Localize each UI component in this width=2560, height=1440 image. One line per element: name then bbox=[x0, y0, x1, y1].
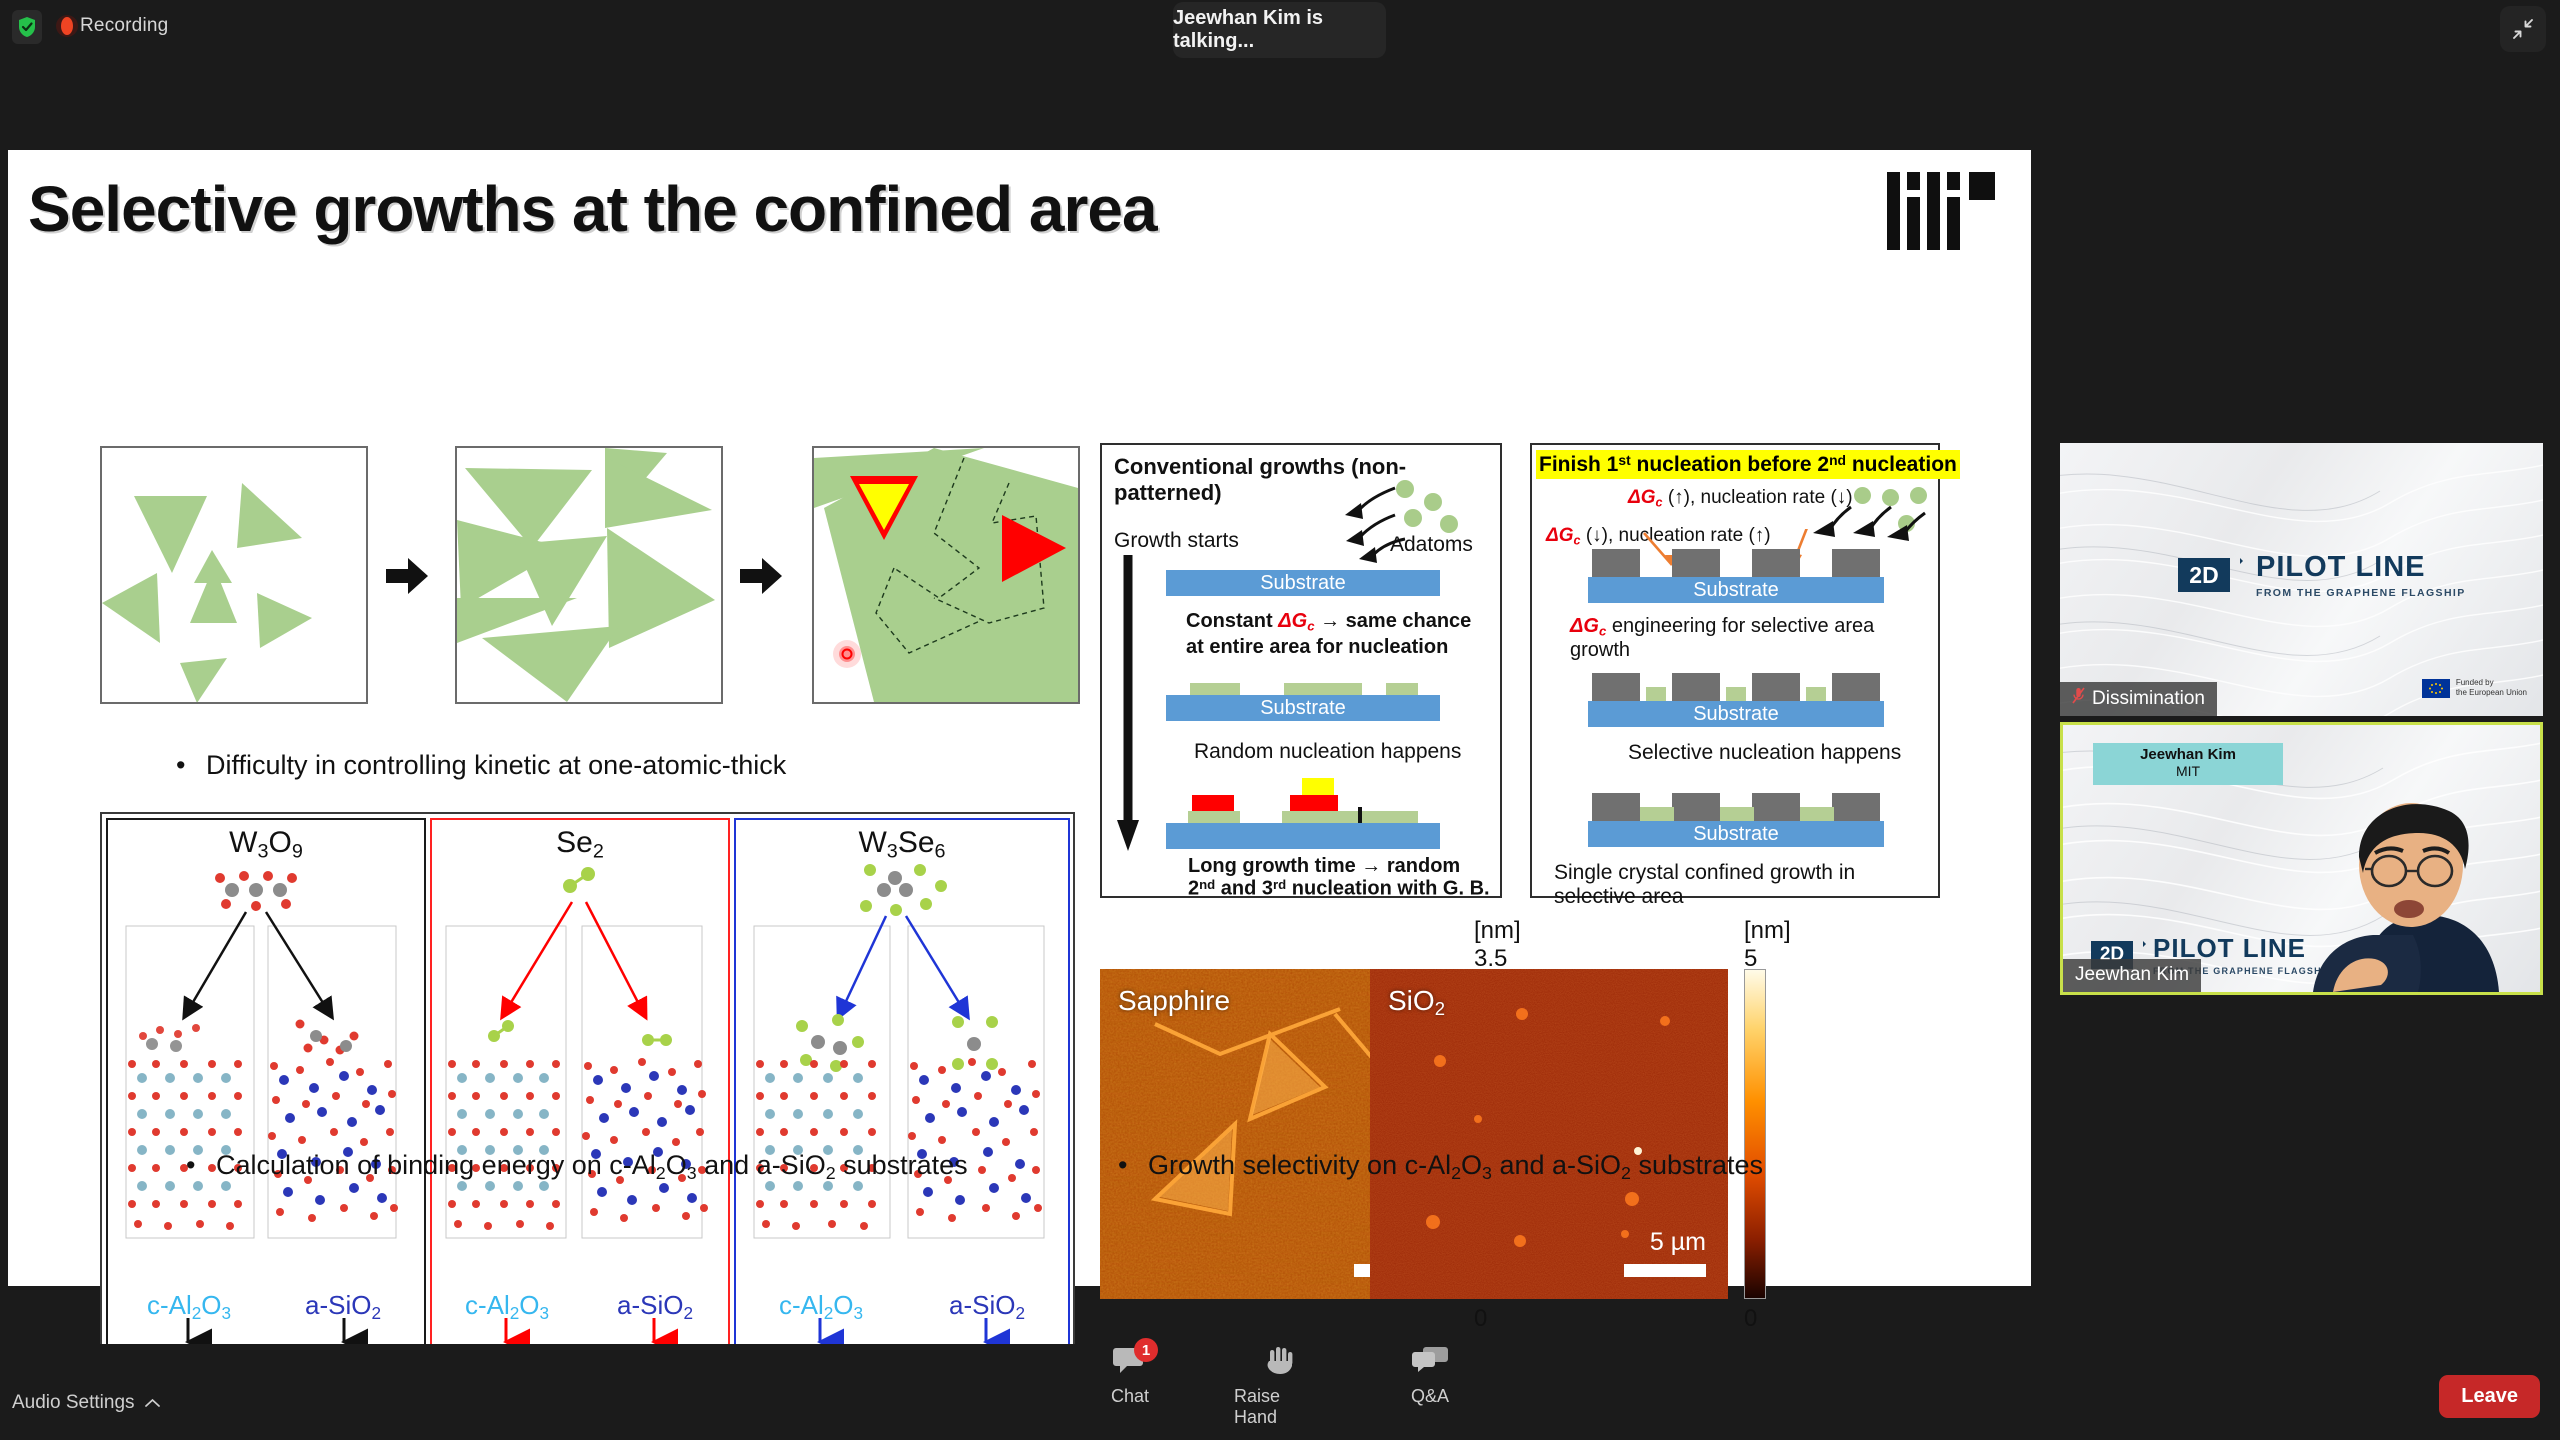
second-nucleation-block bbox=[1192, 795, 1234, 811]
eu-funding-line2: the European Union bbox=[2456, 688, 2527, 698]
bullet-difficulty: •Difficulty in controlling kinetic at on… bbox=[176, 750, 786, 781]
mic-muted-icon bbox=[2072, 687, 2085, 710]
dft-column-w3se6: W3Se6 bbox=[734, 818, 1070, 1370]
binding-energy-panel: W3O9 bbox=[100, 812, 1075, 1372]
chevron-up-icon[interactable] bbox=[145, 1392, 160, 1414]
selective-title: Finish 1st nucleation before 2nd nucleat… bbox=[1536, 450, 1960, 479]
logo-subtitle: FROM THE GRAPHENE FLAGSHIP bbox=[2256, 587, 2466, 599]
dft-column-w3o9: W3O9 bbox=[106, 818, 426, 1370]
afm-scalebar bbox=[1624, 1264, 1706, 1277]
title-part-b: nucleation before 2 bbox=[1631, 453, 1829, 476]
single-crystal-line: Single crystal confined growth in select… bbox=[1554, 861, 1938, 909]
afm-tag-sub: 2 bbox=[1435, 998, 1445, 1019]
participant-name: Dissimination bbox=[2092, 688, 2205, 710]
delta-gc-symbol: ΔGc bbox=[1628, 487, 1663, 508]
delta-gc-symbol: ΔGc bbox=[1570, 615, 1606, 637]
nucleus-segment bbox=[1720, 807, 1754, 821]
title-part-a: Finish 1 bbox=[1539, 453, 1618, 476]
engineering-line: ΔGc engineering for selective area growt… bbox=[1570, 615, 1938, 662]
mask-block bbox=[1752, 549, 1800, 577]
growth-stage-3 bbox=[812, 446, 1080, 704]
page-title: Selective growths at the confined area bbox=[28, 172, 1157, 246]
nucleus-segment bbox=[1800, 807, 1834, 821]
bullet-calculation: •Calculation of binding energy on c-Al2O… bbox=[186, 1150, 968, 1184]
nucleus-segment bbox=[1806, 687, 1826, 701]
constant-suffix: → same chance bbox=[1315, 610, 1472, 632]
mask-block bbox=[1752, 793, 1800, 821]
substrate-bar: Substrate bbox=[1588, 821, 1884, 847]
engineering-text: engineering for selective area growth bbox=[1570, 615, 1874, 661]
eu-flag-icon bbox=[2422, 679, 2450, 698]
chat-unread-badge: 1 bbox=[1134, 1338, 1158, 1362]
nucleus-segment bbox=[1726, 687, 1746, 701]
bullet-marker: • bbox=[186, 1150, 216, 1181]
nucleus-segment bbox=[1190, 683, 1240, 695]
constant-prefix: Constant bbox=[1186, 610, 1278, 632]
chat-button[interactable]: 1 Chat bbox=[1084, 1346, 1176, 1428]
mask-block bbox=[1672, 549, 1720, 577]
shield-check-icon[interactable] bbox=[12, 10, 42, 44]
afm-unit-label: [nm] bbox=[1474, 917, 1544, 945]
growth-stage-diagram bbox=[100, 446, 1080, 706]
growth-stage-1 bbox=[100, 446, 368, 704]
entire-area-line: at entire area for nucleation bbox=[1186, 636, 1448, 659]
zoom-meeting-window: Recording Jeewhan Kim is talking... Sele… bbox=[0, 0, 2560, 1440]
audio-settings-label: Audio Settings bbox=[12, 1392, 135, 1414]
random-nucleation-line: Random nucleation happens bbox=[1194, 740, 1461, 764]
nucleus-segment bbox=[1640, 807, 1674, 821]
recording-label: Recording bbox=[80, 15, 168, 37]
video-tile-jeewhan-kim[interactable]: Jeewhan Kim MIT 2D PILOT LINE FROM THE G… bbox=[2060, 722, 2543, 995]
conventional-growths-diagram: Conventional growths (non-patterned) Gro… bbox=[1100, 443, 1502, 898]
afm-image-sio2: SiO2 5 µm bbox=[1370, 969, 1728, 1299]
participant-name-tag: Jeewhan Kim bbox=[2063, 959, 2201, 992]
afm-unit-label: [nm] bbox=[1744, 917, 1814, 945]
leave-button[interactable]: Leave bbox=[2439, 1375, 2540, 1418]
mask-block bbox=[1672, 673, 1720, 701]
mit-logo bbox=[1887, 172, 2007, 250]
title-sup-1: st bbox=[1618, 452, 1630, 468]
dft-col-header: Se2 bbox=[432, 826, 728, 864]
afm-tag-sapphire: Sapphire bbox=[1118, 985, 1230, 1017]
afm-min-label: 0 bbox=[1744, 1305, 1757, 1333]
eu-funding-line1: Funded by bbox=[2456, 678, 2527, 688]
mask-block bbox=[1832, 549, 1880, 577]
growth-stage-2 bbox=[455, 446, 723, 704]
dft-col-header: W3Se6 bbox=[736, 826, 1068, 864]
nucleus-segment bbox=[1646, 687, 1666, 701]
selective-growth-diagram: Finish 1st nucleation before 2nd nucleat… bbox=[1530, 443, 1940, 898]
afm-tag-sio2: SiO2 bbox=[1388, 985, 1445, 1020]
mask-block bbox=[1672, 793, 1720, 821]
substrate-bar bbox=[1166, 823, 1440, 849]
afm-colorbar bbox=[1744, 969, 1766, 1299]
mask-block bbox=[1592, 793, 1640, 821]
arrow-stage-2-to-3 bbox=[740, 556, 782, 596]
dft-col-header: W3O9 bbox=[108, 826, 424, 864]
participant-name-tag: Dissimination bbox=[2060, 682, 2217, 716]
adatom-dot bbox=[1440, 515, 1458, 533]
speaker-overlay-org: MIT bbox=[2093, 763, 2283, 779]
speaker-overlay-name: Jeewhan Kim bbox=[2093, 746, 2283, 763]
delta-gc-symbol: ΔGc bbox=[1278, 610, 1314, 632]
substrate-bar: Substrate bbox=[1166, 695, 1440, 721]
time-arrow bbox=[1116, 555, 1146, 855]
raise-hand-button[interactable]: Raise Hand bbox=[1234, 1346, 1326, 1428]
mask-block bbox=[1832, 673, 1880, 701]
bottom-toolbar: Audio Settings 1 Chat Raise Hand bbox=[0, 1344, 2560, 1440]
raised-hand-icon[interactable] bbox=[1265, 1346, 1295, 1379]
adatom-arrows bbox=[1327, 483, 1407, 563]
mask-block bbox=[1592, 549, 1640, 577]
shared-slide: Selective growths at the confined area bbox=[8, 150, 2031, 1286]
title-part-c: nucleation bbox=[1846, 453, 1957, 476]
adatom-dot bbox=[1910, 487, 1927, 504]
bullet-marker: • bbox=[176, 750, 206, 781]
video-tile-dissimination[interactable]: 2D PILOT LINE FROM THE GRAPHENE FLAGSHIP… bbox=[2060, 443, 2543, 716]
bullet-marker: • bbox=[1118, 1150, 1148, 1181]
afm-min-label: 0 bbox=[1474, 1305, 1487, 1333]
dft-column-se2: Se2 bbox=[430, 818, 730, 1370]
growth-starts-label: Growth starts bbox=[1114, 529, 1239, 553]
qa-label: Q&A bbox=[1411, 1386, 1449, 1407]
speaker-overlay-card: Jeewhan Kim MIT bbox=[2093, 743, 2283, 785]
grain-boundary-mark bbox=[1358, 807, 1362, 823]
audio-settings-button[interactable]: Audio Settings bbox=[12, 1392, 160, 1414]
participant-name: Jeewhan Kim bbox=[2075, 964, 2189, 986]
mask-block bbox=[1832, 793, 1880, 821]
substrate-bar: Substrate bbox=[1166, 570, 1440, 596]
record-dot-icon[interactable] bbox=[54, 13, 80, 39]
second-nucleation-block bbox=[1290, 795, 1338, 811]
chat-label: Chat bbox=[1111, 1386, 1149, 1407]
third-nucleation-block bbox=[1302, 778, 1334, 795]
substrate-bar: Substrate bbox=[1588, 701, 1884, 727]
qa-bubbles-icon[interactable] bbox=[1412, 1346, 1448, 1379]
conventional-title: Conventional growths (non-patterned) bbox=[1114, 454, 1500, 506]
talking-text: Jeewhan Kim is talking... bbox=[1173, 7, 1386, 53]
mask-block bbox=[1752, 673, 1800, 701]
talking-indicator: Jeewhan Kim is talking... bbox=[1173, 2, 1386, 58]
afm-tag-text: SiO bbox=[1388, 985, 1435, 1016]
substrate-bar: Substrate bbox=[1588, 577, 1884, 603]
afm-scalebar-label: 5 µm bbox=[1650, 1228, 1706, 1257]
constant-dg-line: Constant ΔGc → same chance bbox=[1186, 610, 1471, 634]
long-growth-line1: Long growth time → random bbox=[1188, 855, 1460, 878]
bullet-selectivity: •Growth selectivity on c-Al2O3 and a-SiO… bbox=[1118, 1150, 1763, 1184]
qa-button[interactable]: Q&A bbox=[1384, 1346, 1476, 1428]
nucleus-segment bbox=[1188, 811, 1240, 823]
logo-word: PILOT LINE bbox=[2256, 551, 2466, 584]
arrow-stage-1-to-2 bbox=[386, 556, 428, 596]
bullet-difficulty-text: Difficulty in controlling kinetic at one… bbox=[206, 750, 786, 780]
meeting-controls: 1 Chat Raise Hand Q&A bbox=[1084, 1346, 1476, 1428]
raise-hand-label: Raise Hand bbox=[1234, 1386, 1326, 1428]
exit-fullscreen-icon[interactable] bbox=[2500, 6, 2546, 52]
nucleus-segment bbox=[1284, 683, 1362, 695]
title-sup-2: nd bbox=[1829, 452, 1846, 468]
mask-block bbox=[1592, 673, 1640, 701]
nucleus-segment bbox=[1386, 683, 1418, 695]
nucleus-segment bbox=[1282, 811, 1418, 823]
logo-badge-2d: 2D bbox=[2178, 558, 2230, 592]
presenter-video-figure bbox=[2213, 787, 2543, 992]
adatom-dot bbox=[1854, 487, 1871, 504]
adatom-dot bbox=[1424, 493, 1442, 511]
top-bar: Recording Jeewhan Kim is talking... bbox=[0, 0, 2560, 58]
pilot-line-logo: 2D PILOT LINE FROM THE GRAPHENE FLAGSHIP bbox=[2178, 551, 2466, 599]
eu-funding-badge: Funded by the European Union bbox=[2422, 678, 2527, 698]
long-growth-line2: 2nd and 3rd nucleation with G. B. bbox=[1188, 877, 1490, 901]
selective-nucleation-line: Selective nucleation happens bbox=[1628, 741, 1901, 765]
